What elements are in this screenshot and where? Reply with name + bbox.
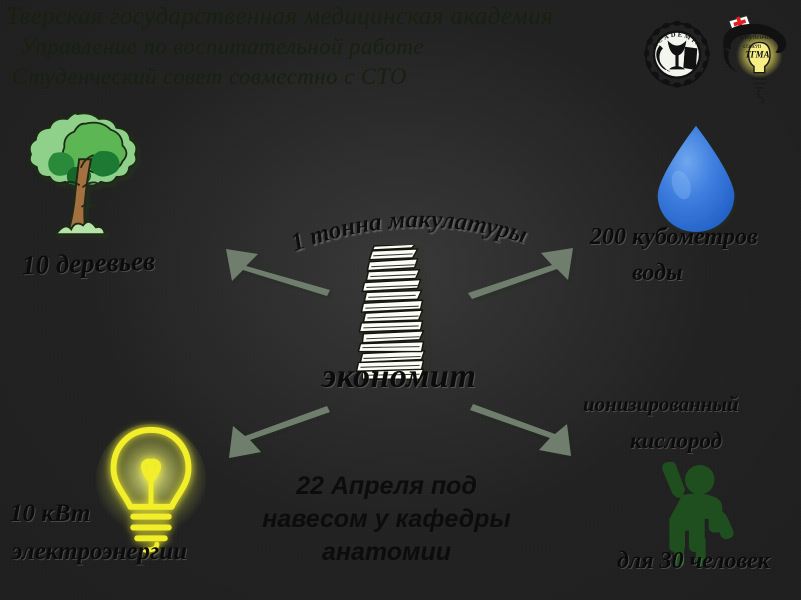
logo-group: ACADEMIA ТВЕРЬ [635,4,795,104]
announcement-line-3: анатомии [254,536,519,569]
student-logo-line-3: ТГМА [745,50,770,60]
branch-label-water-line-1: 200 кубометров [590,224,758,251]
tree-icon [14,108,162,248]
arrow-to-oxygen [470,404,571,456]
student-logo-line-2: совет [743,42,761,50]
branch-label-water-line-2: воды [632,260,683,287]
poster-header: Тверская государственная медицинская ака… [6,2,646,92]
branch-label-electricity-line-2: электроэнергии [12,538,187,566]
branch-label-oxygen-line-1: ионизированный [583,392,739,417]
center-arc-label: 1 тонна макулатуры [250,206,570,276]
header-line-2: Управление по воспитательной работе [6,32,646,62]
arc-label-text: 1 тонна макулатуры [287,206,530,256]
branch-label-oxygen-line-3: для 30 человек [617,548,770,575]
student-council-logo: Студенческий совет ТГМА [713,4,795,104]
svg-text:1 тонна макулатуры: 1 тонна макулатуры [287,206,530,256]
announcement-line-1: 22 Апреля под [254,470,519,503]
header-line-1: Тверская государственная медицинская ака… [6,2,646,32]
academy-seal-logo: ACADEMIA ТВЕРЬ [638,12,716,94]
event-announcement: 22 Апреля под навесом у кафедры анатомии [254,470,519,569]
branch-label-trees: 10 деревьев [21,246,155,282]
student-logo-line-1: Студенческий [740,33,784,41]
center-verb-label: экономит [322,358,476,396]
header-line-3: Студенческий совет совместно с СТО [6,62,646,92]
announcement-line-2: навесом у кафедры [254,503,519,536]
poster-canvas: Тверская государственная медицинская ака… [0,0,801,600]
branch-label-oxygen-line-2: кислород [630,428,722,454]
water-drop-icon [645,122,747,232]
branch-label-electricity-line-1: 10 кВт [10,500,90,528]
arrow-to-electricity [229,406,330,458]
